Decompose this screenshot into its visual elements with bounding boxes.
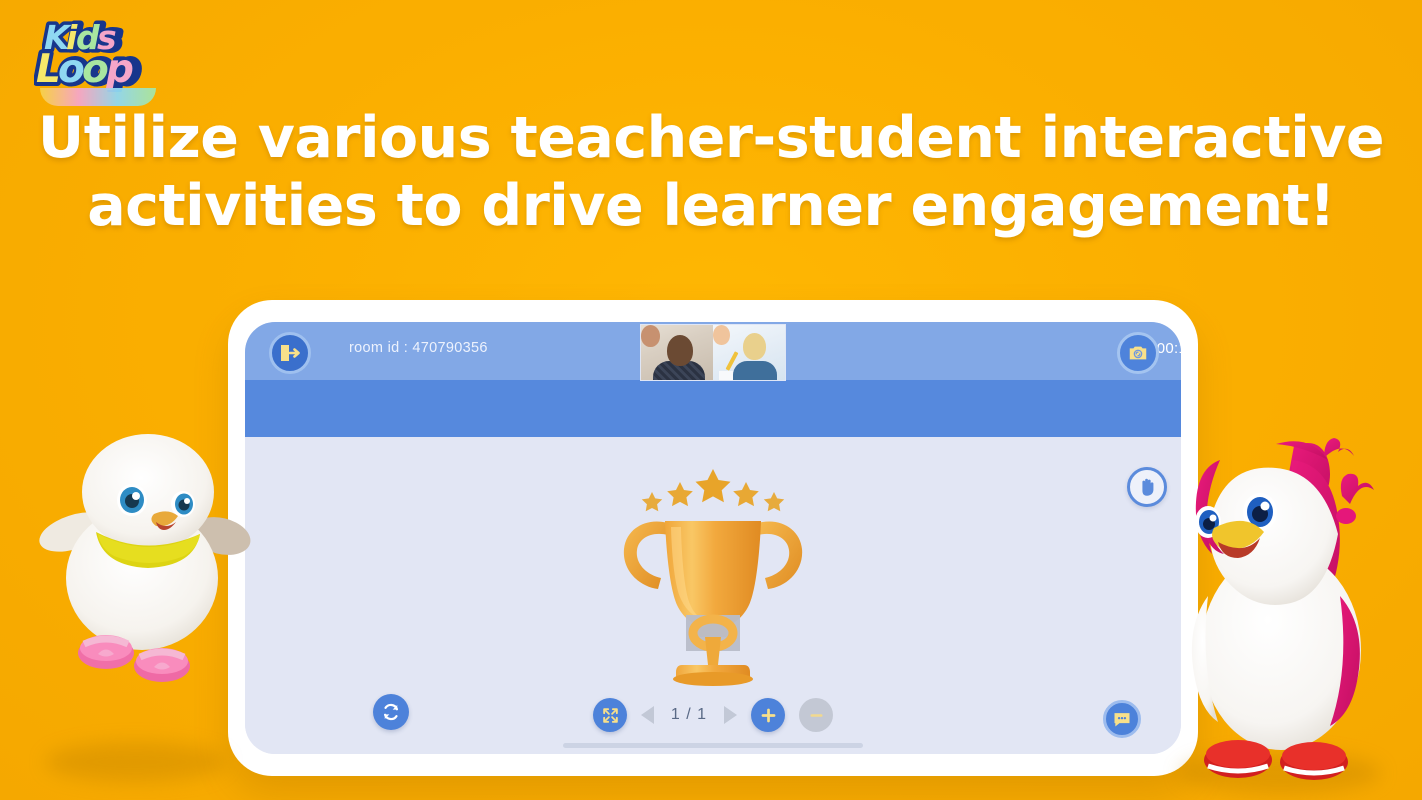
headline-line-1: Utilize various teacher-student interact… [38, 105, 1384, 171]
app-screen: room id : 470790356 00:00:13 [245, 322, 1181, 754]
page-controls: 1 / 1 [593, 698, 833, 732]
headline-line-2: activities to drive learner engagement! [0, 172, 1422, 240]
chat-button[interactable] [1103, 700, 1141, 738]
next-page-button[interactable] [724, 706, 737, 724]
svg-text:L: L [36, 47, 60, 92]
tablet-device: room id : 470790356 00:00:13 [228, 300, 1198, 776]
prev-page-button[interactable] [641, 706, 654, 724]
fullscreen-icon [601, 706, 620, 725]
fullscreen-button[interactable] [593, 698, 627, 732]
plus-icon [759, 706, 778, 725]
zoom-out-button[interactable] [799, 698, 833, 732]
bird-mascot [36, 428, 251, 693]
hand-raise-icon [1136, 476, 1158, 498]
home-indicator [563, 743, 863, 748]
app-toolbar-secondary [245, 380, 1181, 437]
exit-button[interactable] [269, 332, 311, 374]
promo-banner: Kids K i d s Loop L o o p Utilize variou… [0, 0, 1422, 800]
svg-text:o: o [58, 47, 84, 92]
trophy-icon [608, 465, 818, 695]
svg-text:o: o [82, 47, 108, 92]
camera-switch-icon [1127, 342, 1149, 364]
page-title: Utilize various teacher-student interact… [0, 104, 1422, 240]
student-video-tile[interactable] [713, 325, 785, 380]
teacher-video-tile[interactable] [641, 325, 713, 380]
exit-door-icon [278, 341, 302, 365]
kidsloop-logo: Kids K i d s Loop L o o p [34, 18, 162, 100]
chat-bubble-icon [1112, 709, 1132, 729]
svg-text:p: p [105, 47, 133, 92]
video-tile-strip [640, 324, 786, 381]
minus-icon [807, 706, 826, 725]
page-indicator: 1 / 1 [668, 706, 710, 724]
bird-shadow [46, 742, 226, 782]
refresh-button[interactable] [373, 694, 409, 730]
room-id-label: room id : 470790356 [349, 340, 488, 356]
raise-hand-button[interactable] [1127, 467, 1167, 507]
camera-switch-button[interactable] [1117, 332, 1159, 374]
refresh-icon [380, 701, 402, 723]
zoom-in-button[interactable] [751, 698, 785, 732]
penguin-mascot [1168, 400, 1390, 790]
whiteboard-content[interactable]: 1 / 1 [245, 437, 1181, 754]
